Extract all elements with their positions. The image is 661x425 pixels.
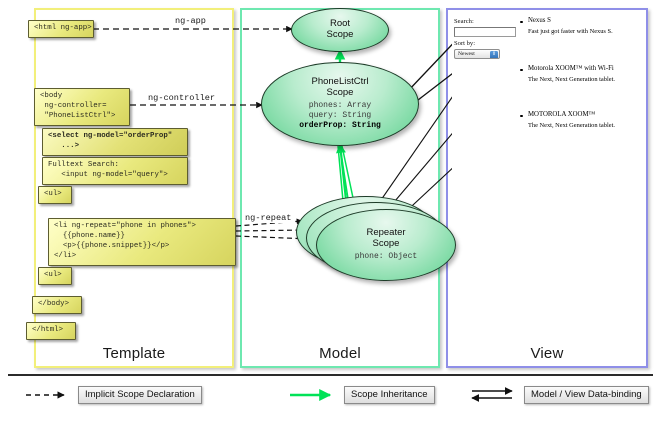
legend-label-model-view-data-binding: Model / View Data-binding <box>524 386 649 404</box>
view-phone-snippet: Fast just got faster with Nexus S. <box>528 28 613 35</box>
scope-repeater: RepeaterScope phone: Object <box>316 209 456 281</box>
scope-phonelistctrl-title: PhoneListCtrlScope <box>311 77 368 99</box>
bullet-icon <box>520 115 523 118</box>
note-ul-open: <ul> <box>38 186 72 204</box>
edge-label-ng-controller: ng-controller <box>146 93 217 103</box>
legend-label-scope-inheritance: Scope Inheritance <box>344 386 435 404</box>
view-sort-label: Sort by: <box>454 40 475 47</box>
chevron-updown-icon: ⇕ <box>490 51 498 59</box>
note-body-controller: <body ng-controller= "PhoneListCtrl"> <box>34 88 130 126</box>
legend-divider <box>8 374 653 376</box>
scope-repeater-title: RepeaterScope <box>366 228 405 250</box>
green-arrow-icon <box>286 386 342 404</box>
scope-phonelistctrl: PhoneListCtrlScope phones: Arrayquery: S… <box>261 62 419 146</box>
view-sort-select[interactable]: Newest ⇕ <box>454 49 500 59</box>
note-body-close: </body> <box>32 296 82 314</box>
view-phone-snippet: The Next, Next Generation tablet. <box>528 122 615 129</box>
bullet-icon <box>520 69 523 72</box>
column-label-template: Template <box>36 345 232 362</box>
scope-phonelistctrl-props: phones: Arrayquery: StringorderProp: Str… <box>299 101 381 131</box>
note-ul-close: <ul> <box>38 267 72 285</box>
bullet-icon <box>520 21 523 24</box>
note-html-open: <html ng-app> <box>28 20 94 38</box>
column-label-view: View <box>448 345 646 362</box>
view-search-input[interactable] <box>454 27 516 37</box>
note-select-orderprop: <select ng-model="orderProp" ...> <box>42 128 188 156</box>
edge-label-ng-repeat: ng-repeat <box>243 213 293 223</box>
view-sort-selected-value: Newest <box>458 51 475 57</box>
legend-label-implicit-scope-declaration: Implicit Scope Declaration <box>78 386 202 404</box>
note-fulltext-search: Fulltext Search: <input ng-model="query"… <box>42 157 188 185</box>
view-phone-name: MOTOROLA XOOM™ <box>528 111 595 118</box>
legend: Implicit Scope Declaration Scope Inherit… <box>8 378 653 418</box>
view-phone-snippet: The Next, Next Generation tablet. <box>528 76 615 83</box>
scope-root-title: RootScope <box>327 19 354 41</box>
double-arrow-icon <box>466 386 522 404</box>
view-rendered-app: Search: Sort by: Newest ⇕ Nexus S Fast j… <box>452 14 642 344</box>
diagram-canvas: Template Model View <box>0 0 661 425</box>
view-phone-name: Nexus S <box>528 17 551 24</box>
view-phone-name: Motorola XOOM™ with Wi-Fi <box>528 65 614 72</box>
scope-repeater-props: phone: Object <box>355 252 417 262</box>
column-label-model: Model <box>242 345 438 362</box>
edge-label-ng-app: ng-app <box>173 16 208 26</box>
view-search-label: Search: <box>454 18 474 25</box>
scope-root: RootScope <box>291 8 389 52</box>
dashed-arrow-icon <box>20 386 76 404</box>
note-li-ng-repeat: <li ng-repeat="phone in phones"> {{phone… <box>48 218 236 266</box>
note-html-close: </html> <box>26 322 76 340</box>
